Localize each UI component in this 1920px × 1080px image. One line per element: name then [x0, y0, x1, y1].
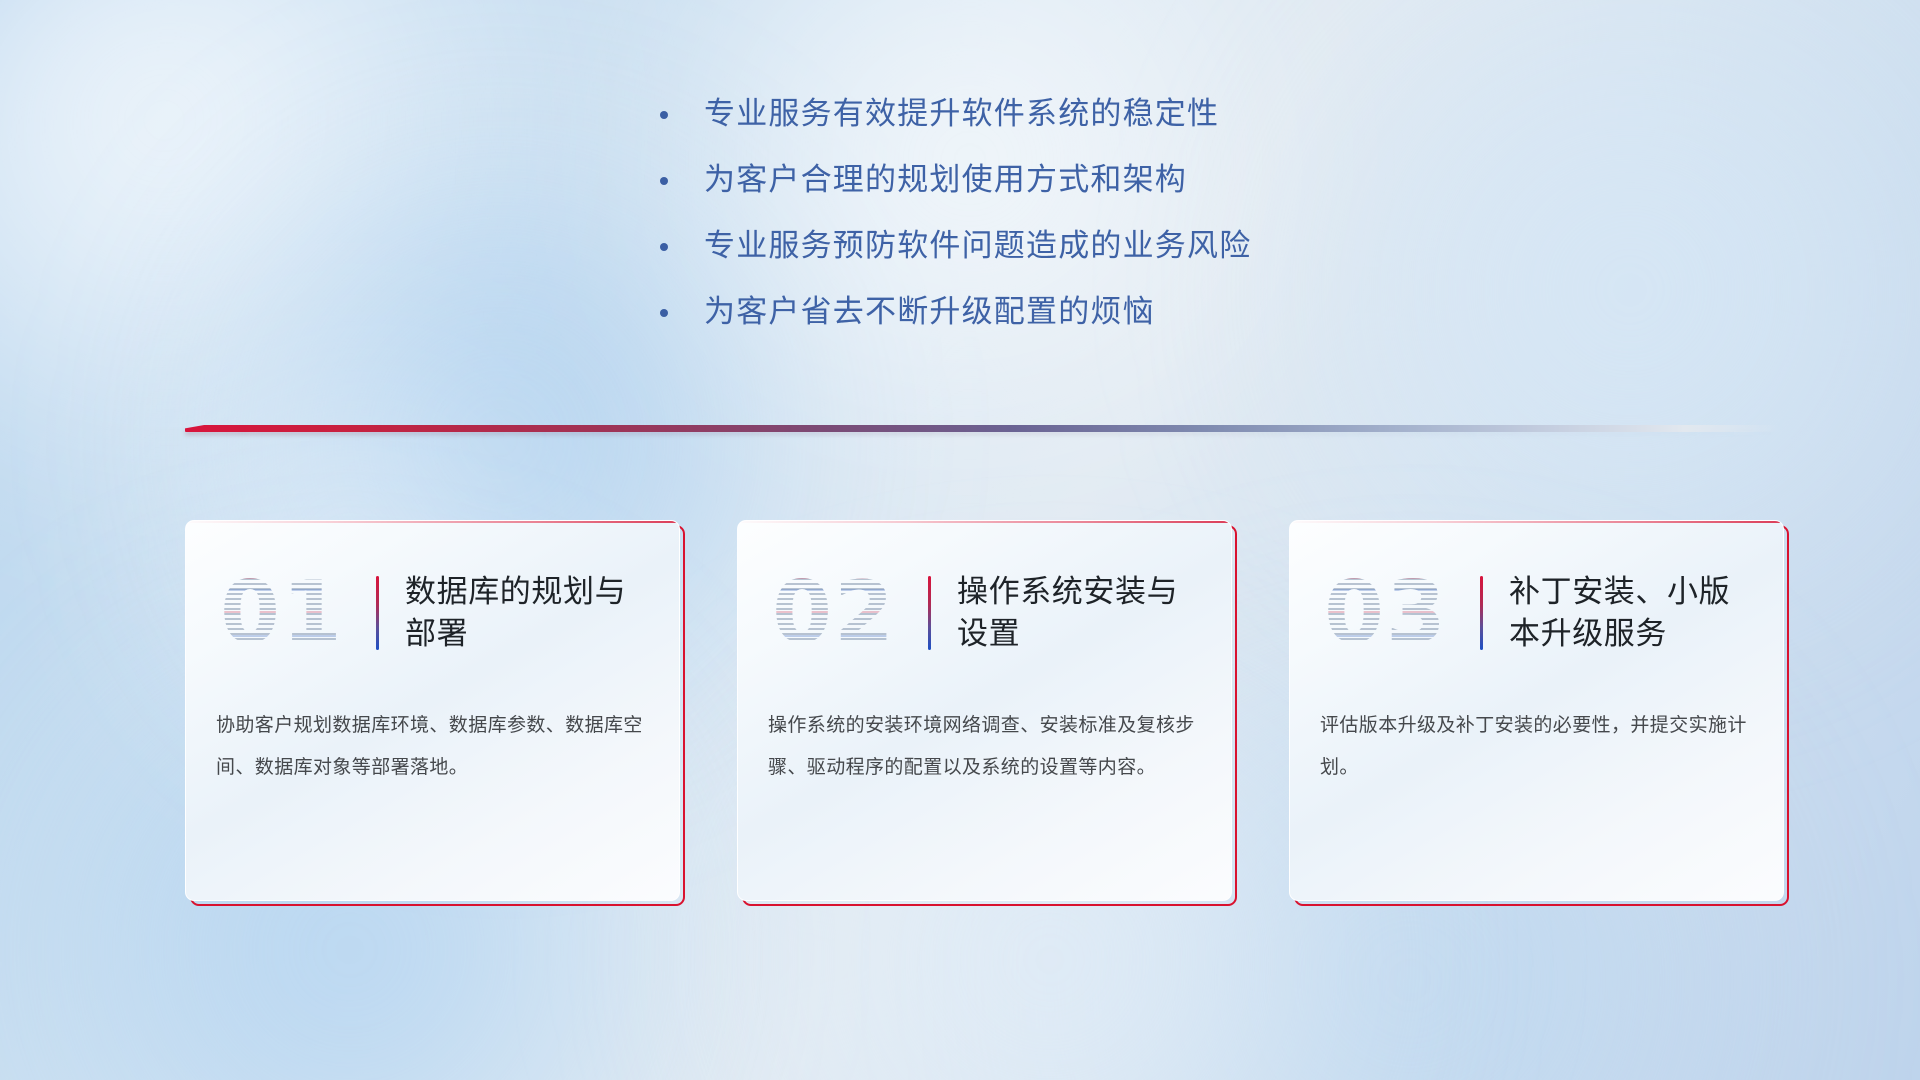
service-card-group: 01 01 01 数据库的规划与部署 协助客户规划数据库环境、数据库参数、数据库… [185, 520, 1785, 910]
card-surface: 02 02 02 操作系统安装与设置 操作系统的安装环境网络调查、安装标准及复核… [737, 520, 1232, 901]
bullet-text: 为客户合理的规划使用方式和架构 [704, 158, 1187, 202]
card-body-text: 协助客户规划数据库环境、数据库参数、数据库空间、数据库对象等部署落地。 [186, 669, 679, 789]
card-surface: 03 03 03 补丁安装、小版本升级服务 评估版本升级及补丁安装的必要性，并提… [1289, 520, 1784, 901]
card-surface: 01 01 01 数据库的规划与部署 协助客户规划数据库环境、数据库参数、数据库… [185, 520, 680, 901]
card-title-rule [376, 576, 379, 650]
bullet-text: 专业服务有效提升软件系统的稳定性 [704, 92, 1219, 136]
list-item: 为客户合理的规划使用方式和架构 [660, 158, 1420, 202]
service-card-02[interactable]: 02 02 02 操作系统安装与设置 操作系统的安装环境网络调查、安装标准及复核… [737, 520, 1232, 901]
benefits-bullet-list: 专业服务有效提升软件系统的稳定性 为客户合理的规划使用方式和架构 专业服务预防软… [660, 92, 1420, 356]
card-number-glyph-blue-stripes: 02 [764, 563, 904, 663]
card-header: 02 02 02 操作系统安装与设置 [738, 521, 1231, 669]
bullet-text: 为客户省去不断升级配置的烦恼 [704, 290, 1155, 334]
bullet-text: 专业服务预防软件问题造成的业务风险 [704, 224, 1251, 268]
service-card-01[interactable]: 01 01 01 数据库的规划与部署 协助客户规划数据库环境、数据库参数、数据库… [185, 520, 680, 901]
card-body-text: 评估版本升级及补丁安装的必要性，并提交实施计划。 [1290, 669, 1783, 789]
bullet-dot-icon [660, 243, 668, 251]
section-divider [185, 425, 1780, 437]
bullet-dot-icon [660, 177, 668, 185]
card-title: 操作系统安装与设置 [957, 571, 1205, 655]
card-number-glyph-blue-stripes: 01 [212, 563, 352, 663]
card-title-rule [928, 576, 931, 650]
card-body-text: 操作系统的安装环境网络调查、安装标准及复核步骤、驱动程序的配置以及系统的设置等内… [738, 669, 1231, 789]
card-title: 数据库的规划与部署 [405, 571, 653, 655]
bullet-dot-icon [660, 309, 668, 317]
card-number-02: 02 02 02 [764, 563, 904, 663]
card-number-01: 01 01 01 [212, 563, 352, 663]
list-item: 专业服务有效提升软件系统的稳定性 [660, 92, 1420, 136]
card-title: 补丁安装、小版本升级服务 [1509, 571, 1757, 655]
list-item: 专业服务预防软件问题造成的业务风险 [660, 224, 1420, 268]
service-card-03[interactable]: 03 03 03 补丁安装、小版本升级服务 评估版本升级及补丁安装的必要性，并提… [1289, 520, 1784, 901]
card-header: 03 03 03 补丁安装、小版本升级服务 [1290, 521, 1783, 669]
card-title-rule [1480, 576, 1483, 650]
card-number-glyph-blue-stripes: 03 [1316, 563, 1456, 663]
list-item: 为客户省去不断升级配置的烦恼 [660, 290, 1420, 334]
card-number-03: 03 03 03 [1316, 563, 1456, 663]
divider-line [185, 425, 1780, 432]
card-header: 01 01 01 数据库的规划与部署 [186, 521, 679, 669]
bullet-dot-icon [660, 111, 668, 119]
